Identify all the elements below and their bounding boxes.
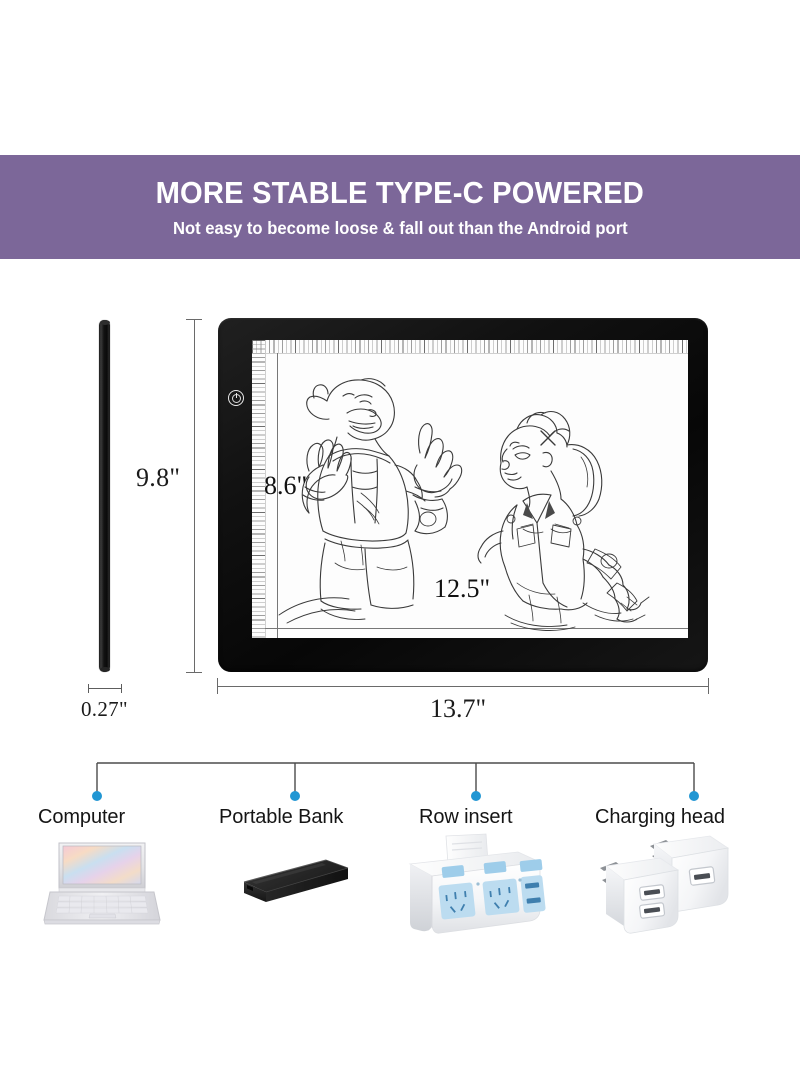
bracket-tick-bottom [186,672,202,673]
bracket-line [217,686,709,687]
thickness-dimension-bracket [88,684,122,693]
bracket-tick-right [708,678,709,694]
headline-banner: MORE STABLE TYPE-C POWERED Not easy to b… [0,155,800,259]
ruler-top [252,340,688,354]
banner-title: MORE STABLE TYPE-C POWERED [156,176,644,210]
width-dimension-bracket [217,678,709,694]
bracket-tick-right [121,684,122,693]
tablet-side-profile [99,320,110,672]
source-label-charging-head: Charging head [595,806,725,829]
power-strip-icon [400,832,550,936]
power-bank-icon [222,852,352,918]
infographic-page: MORE STABLE TYPE-C POWERED Not easy to b… [0,0,800,1091]
active-area-height-label: 8.6" [264,471,307,501]
source-label-computer: Computer [38,806,125,829]
power-icon[interactable] [228,390,244,406]
height-dimension-bracket [186,319,202,673]
wall-charger-icon [592,834,742,938]
source-label-portable-bank: Portable Bank [219,806,343,829]
thickness-dimension-label: 0.27" [81,697,128,722]
active-area-width-label: 12.5" [434,574,490,604]
bracket-line [194,319,195,673]
bracket-line [88,688,122,689]
height-dimension-label: 9.8" [136,463,180,493]
ruler-top-major-ticks [252,340,688,353]
width-dimension-label: 13.7" [430,694,486,724]
banner-subtitle: Not easy to become loose & fall out than… [173,219,628,238]
power-source-connector-tree [0,750,800,810]
power-icon-inner [232,394,241,403]
laptop-icon [42,838,162,930]
source-label-row-insert: Row insert [419,806,512,829]
